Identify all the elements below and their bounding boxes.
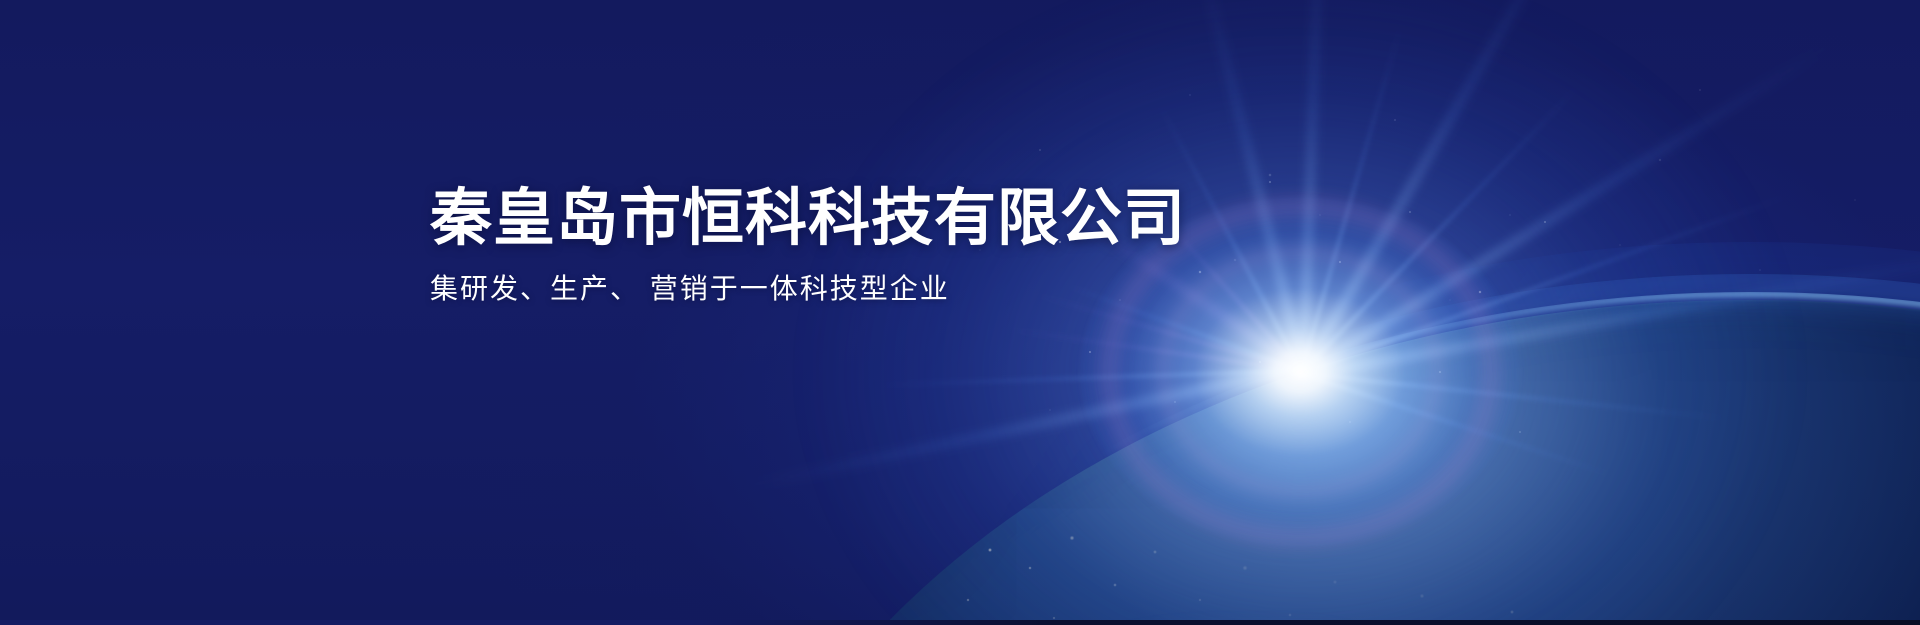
company-title: 秦皇岛市恒科科技有限公司 (430, 188, 1186, 250)
bottom-edge-strip (0, 620, 1920, 625)
hero-banner: 秦皇岛市恒科科技有限公司 集研发、生产、 营销于一体科技型企业 (0, 0, 1920, 625)
company-tagline: 集研发、生产、 营销于一体科技型企业 (430, 272, 1186, 306)
starfield (0, 0, 1920, 625)
hero-copy: 秦皇岛市恒科科技有限公司 集研发、生产、 营销于一体科技型企业 (430, 188, 1186, 306)
